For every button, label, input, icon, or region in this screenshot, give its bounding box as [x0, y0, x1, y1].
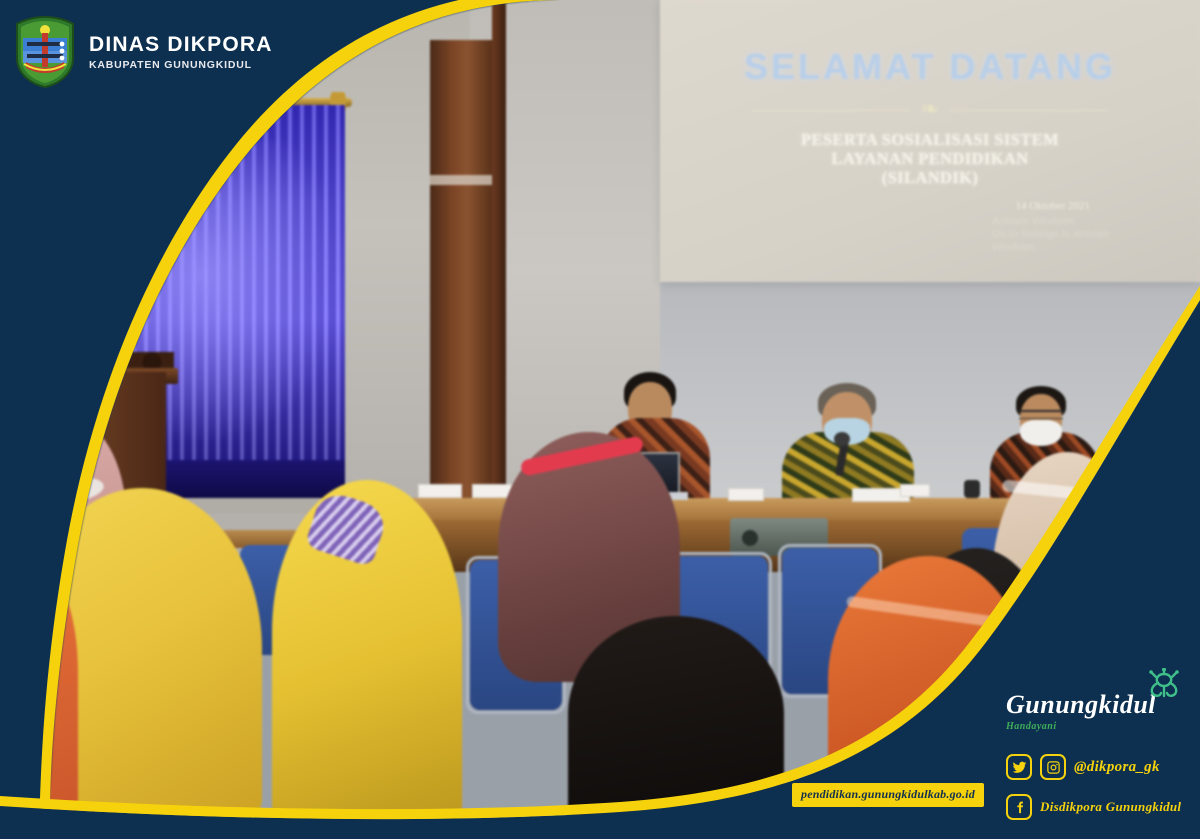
social-row-facebook: Disdikpora Gunungkidul	[1006, 794, 1182, 820]
website-url-badge[interactable]: pendidikan.gunungkidulkab.go.id	[792, 783, 984, 807]
header-identity: DINAS DIKPORA KABUPATEN GUNUNGKIDUL	[14, 16, 273, 88]
agency-subtitle: KABUPATEN GUNUNGKIDUL	[89, 60, 273, 71]
batik-flourish-ornament-icon	[1144, 668, 1184, 702]
regency-branding: Gunungkidul Handayani @dikpora_gk Disdik…	[1006, 690, 1182, 820]
instagram-icon[interactable]	[1040, 754, 1066, 780]
agency-name-block: DINAS DIKPORA KABUPATEN GUNUNGKIDUL	[89, 34, 273, 71]
twitter-icon[interactable]	[1006, 754, 1032, 780]
gunungkidul-tagline: Handayani	[1006, 721, 1182, 732]
facebook-icon[interactable]	[1006, 794, 1032, 820]
agency-title: DINAS DIKPORA	[89, 34, 273, 55]
gunungkidul-logo: Gunungkidul Handayani	[1006, 690, 1182, 740]
poster-canvas: SELAMAT DATANG ❧ PESERTA SOSIALISASI SIS…	[0, 0, 1200, 839]
podium-nameplate	[58, 390, 100, 399]
social-row-primary: @dikpora_gk	[1006, 754, 1182, 780]
gunungkidul-regency-emblem-icon	[14, 16, 76, 88]
social-handle[interactable]: @dikpora_gk	[1074, 759, 1160, 776]
facebook-page-name[interactable]: Disdikpora Gunungkidul	[1040, 799, 1181, 815]
blue-chair	[0, 560, 60, 680]
